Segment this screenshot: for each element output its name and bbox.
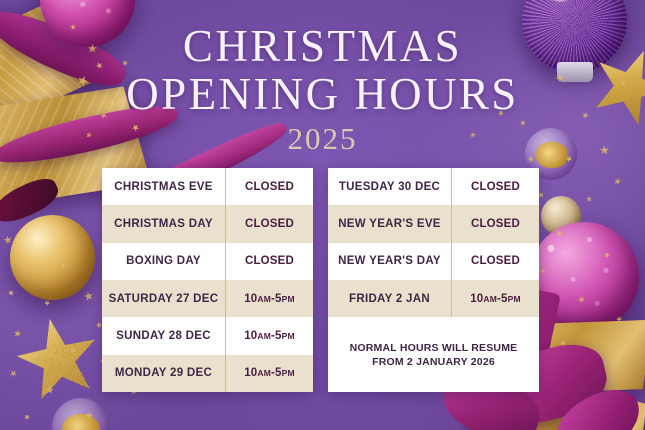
am-label: AM bbox=[483, 294, 497, 304]
magenta-bow-tail-icon bbox=[545, 379, 645, 430]
schedule-hours-value: 10AM-5PM bbox=[226, 280, 313, 317]
gold-star-confetti-icon bbox=[29, 267, 38, 276]
schedule-day-label: SUNDAY 28 DEC bbox=[102, 317, 226, 354]
schedule-hours-value: CLOSED bbox=[226, 243, 313, 280]
schedule-hours-value: CLOSED bbox=[226, 205, 313, 242]
gold-star-confetti-icon bbox=[86, 412, 93, 419]
gold-star-confetti-icon bbox=[59, 261, 67, 269]
christmas-opening-hours-poster: CHRISTMAS OPENING HOURS 2025 CHRISTMAS E… bbox=[0, 0, 645, 430]
gold-star-confetti-icon bbox=[13, 329, 22, 338]
schedule-day-label: SATURDAY 27 DEC bbox=[102, 280, 226, 317]
gold-star-confetti-icon bbox=[69, 345, 79, 355]
gold-glitter-star-left-icon bbox=[11, 311, 106, 406]
right-schedule-table: TUESDAY 30 DECCLOSEDNEW YEAR'S EVECLOSED… bbox=[328, 168, 539, 392]
schedule-day-label: MONDAY 29 DEC bbox=[102, 355, 226, 392]
schedule-hours-value: CLOSED bbox=[226, 168, 313, 205]
schedule-row: SUNDAY 28 DEC10AM-5PM bbox=[102, 317, 313, 354]
schedule-hours-value: CLOSED bbox=[452, 168, 539, 205]
schedule-day-label: CHRISTMAS EVE bbox=[102, 168, 226, 205]
gold-star-confetti-icon bbox=[577, 295, 586, 304]
gold-star-confetti-icon bbox=[613, 177, 623, 187]
heading-line-1: CHRISTMAS bbox=[0, 22, 645, 70]
pm-label: PM bbox=[282, 294, 295, 304]
schedule-hours-value: 10AM-5PM bbox=[226, 317, 313, 354]
schedule-day-label: CHRISTMAS DAY bbox=[102, 205, 226, 242]
schedule-row: BOXING DAYCLOSED bbox=[102, 243, 313, 280]
resume-note-row: NORMAL HOURS WILL RESUMEFROM 2 JANUARY 2… bbox=[328, 317, 539, 392]
gold-star-confetti-icon bbox=[585, 195, 592, 202]
schedule-day-label: NEW YEAR'S DAY bbox=[328, 243, 452, 280]
schedule-row: SATURDAY 27 DEC10AM-5PM bbox=[102, 280, 313, 317]
pm-label: PM bbox=[282, 368, 295, 378]
gold-star-confetti-icon bbox=[603, 251, 610, 258]
gold-star-confetti-icon bbox=[3, 235, 14, 246]
gold-star-confetti-icon bbox=[45, 385, 54, 394]
dark-red-fabric-wisp-icon bbox=[0, 173, 63, 229]
schedule-day-label: FRIDAY 2 JAN bbox=[328, 280, 452, 317]
resume-note-line-1: NORMAL HOURS WILL RESUME bbox=[350, 341, 518, 355]
schedule-hours-value: CLOSED bbox=[452, 205, 539, 242]
gold-star-confetti-icon bbox=[43, 299, 51, 307]
schedule-row: FRIDAY 2 JAN10AM-5PM bbox=[328, 280, 539, 317]
am-label: AM bbox=[257, 331, 271, 341]
gold-star-confetti-icon bbox=[559, 339, 567, 347]
poster-heading: CHRISTMAS OPENING HOURS 2025 bbox=[0, 22, 645, 158]
schedule-row: NEW YEAR'S DAYCLOSED bbox=[328, 243, 539, 280]
schedule-day-label: TUESDAY 30 DEC bbox=[328, 168, 452, 205]
left-schedule-table: CHRISTMAS EVECLOSEDCHRISTMAS DAYCLOSEDBO… bbox=[102, 168, 313, 392]
schedule-row: CHRISTMAS EVECLOSED bbox=[102, 168, 313, 205]
gold-star-confetti-icon bbox=[539, 267, 547, 275]
pink-glitter-bauble-bottom-right-icon bbox=[529, 222, 639, 332]
schedule-day-label: NEW YEAR'S EVE bbox=[328, 205, 452, 242]
schedule-row: MONDAY 29 DEC10AM-5PM bbox=[102, 355, 313, 392]
gold-star-confetti-icon bbox=[23, 413, 31, 421]
schedule-hours-value: 10AM-5PM bbox=[452, 280, 539, 317]
resume-note-date: 2 JANUARY 2026 bbox=[407, 356, 495, 368]
gold-star-confetti-icon bbox=[8, 290, 15, 297]
schedule-hours-value: 10AM-5PM bbox=[226, 355, 313, 392]
schedule-row: CHRISTMAS DAYCLOSED bbox=[102, 205, 313, 242]
small-gold-bauble-corner-icon bbox=[583, 400, 629, 430]
gold-star-confetti-icon bbox=[9, 369, 19, 379]
heading-year: 2025 bbox=[0, 120, 645, 158]
am-label: AM bbox=[257, 368, 271, 378]
schedule-row: NEW YEAR'S EVECLOSED bbox=[328, 205, 539, 242]
gold-bauble-left-icon bbox=[10, 215, 95, 300]
gold-star-confetti-icon bbox=[83, 291, 95, 303]
resume-note-line-2: FROM 2 JANUARY 2026 bbox=[350, 355, 518, 369]
am-label: AM bbox=[257, 294, 271, 304]
resume-note-text: NORMAL HOURS WILL RESUMEFROM 2 JANUARY 2… bbox=[350, 341, 518, 369]
schedule-tables: CHRISTMAS EVECLOSEDCHRISTMAS DAYCLOSEDBO… bbox=[102, 168, 539, 392]
gold-star-confetti-icon bbox=[555, 229, 565, 239]
pm-label: PM bbox=[282, 331, 295, 341]
clear-gold-bauble-bottom-left-icon bbox=[52, 398, 110, 430]
schedule-row: TUESDAY 30 DECCLOSED bbox=[328, 168, 539, 205]
pm-label: PM bbox=[508, 294, 521, 304]
gold-star-confetti-icon bbox=[615, 315, 623, 323]
heading-line-2: OPENING HOURS bbox=[0, 70, 645, 118]
schedule-hours-value: CLOSED bbox=[452, 243, 539, 280]
schedule-day-label: BOXING DAY bbox=[102, 243, 226, 280]
small-gold-bauble-icon bbox=[541, 196, 581, 236]
